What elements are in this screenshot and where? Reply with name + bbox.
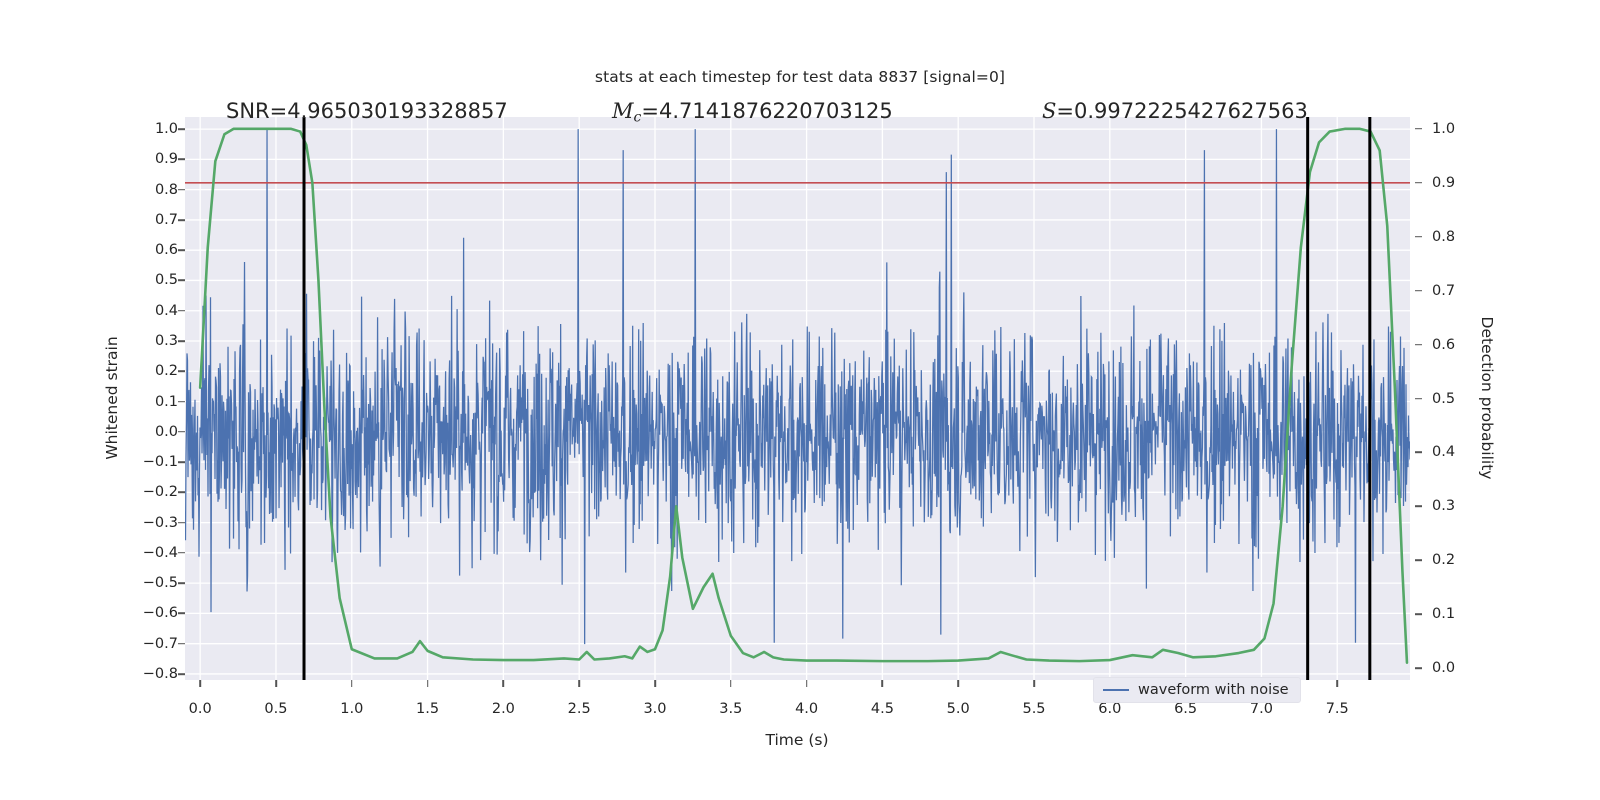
y-tick-label-left: 0.4: [155, 303, 178, 319]
annotation-snr-value: 4.965030193328857: [287, 99, 507, 123]
y-tick-label-left: 0.9: [155, 151, 178, 167]
x-axis-label: Time (s): [765, 731, 828, 749]
y-tick-mark-left: [178, 613, 185, 615]
y-tick-label-right: 0.2: [1432, 552, 1455, 568]
x-tick-label: 1.5: [416, 701, 439, 717]
y-tick-mark-left: [178, 582, 185, 584]
x-tick-label: 0.5: [264, 701, 287, 717]
y-tick-label-left: 0.6: [155, 242, 178, 258]
annotation-mc-symbol: M: [612, 99, 634, 123]
y-tick-mark-right: [1415, 613, 1422, 615]
y-tick-label-left: 0.1: [155, 394, 178, 410]
x-tick-label: 4.5: [871, 701, 894, 717]
y-tick-mark-left: [178, 401, 185, 403]
y-tick-mark-left: [178, 310, 185, 312]
x-tick-label: 3.5: [719, 701, 742, 717]
y-tick-label-left: −0.3: [143, 515, 178, 531]
y-tick-mark-right: [1415, 398, 1422, 400]
y-tick-label-left: −0.5: [143, 575, 178, 591]
y-tick-mark-left: [178, 159, 185, 161]
y-tick-mark-left: [178, 673, 185, 675]
y-tick-mark-left: [178, 643, 185, 645]
y-tick-label-left: −0.6: [143, 605, 178, 621]
y-tick-label-left: 0.8: [155, 182, 178, 198]
y-tick-label-right: 0.0: [1432, 660, 1455, 676]
annotation-chirp-mass: Mc=4.7141876220703125: [612, 99, 893, 126]
y-tick-mark-right: [1415, 182, 1422, 184]
y-tick-label-right: 0.3: [1432, 498, 1455, 514]
y-tick-mark-left: [178, 189, 185, 191]
plot-axes: [185, 117, 1410, 680]
y-tick-mark-left: [178, 492, 185, 494]
y-tick-label-left: −0.4: [143, 545, 178, 561]
annotation-s-value: 0.9972225427627563: [1074, 99, 1308, 123]
y-tick-mark-left: [178, 370, 185, 372]
x-tick-label: 2.5: [568, 701, 591, 717]
y-tick-label-left: 0.0: [155, 424, 178, 440]
y-tick-mark-right: [1415, 452, 1422, 454]
x-tick-label: 7.0: [1250, 701, 1273, 717]
x-tick-label: 5.0: [947, 701, 970, 717]
x-tick-mark: [806, 680, 808, 687]
annotation-snr-prefix: SNR=: [226, 99, 287, 123]
x-tick-mark: [654, 680, 656, 687]
y-tick-mark-right: [1415, 344, 1422, 346]
y-axis-left-label: Whitened strain: [103, 336, 121, 459]
x-tick-label: 3.0: [643, 701, 666, 717]
y-tick-mark-right: [1415, 290, 1422, 292]
waveform-with-noise-series: [185, 129, 1410, 644]
y-tick-mark-right: [1415, 559, 1422, 561]
annotation-mc-value: 4.7141876220703125: [659, 99, 893, 123]
x-tick-label: 0.0: [189, 701, 212, 717]
y-tick-mark-right: [1415, 128, 1422, 130]
y-axis-right-label: Detection probability: [1478, 317, 1496, 480]
x-tick-label: 6.5: [1174, 701, 1197, 717]
y-tick-label-right: 0.1: [1432, 606, 1455, 622]
annotation-s-symbol: S: [1042, 99, 1056, 123]
x-tick-label: 2.0: [492, 701, 515, 717]
y-tick-label-right: 0.4: [1432, 444, 1455, 460]
x-tick-mark: [578, 680, 580, 687]
legend: waveform with noise: [1093, 677, 1301, 703]
y-tick-label-left: −0.7: [143, 636, 178, 652]
x-tick-label: 1.0: [340, 701, 363, 717]
y-tick-mark-left: [178, 340, 185, 342]
y-tick-label-right: 0.9: [1432, 175, 1455, 191]
y-tick-label-right: 0.6: [1432, 337, 1455, 353]
x-tick-mark: [882, 680, 884, 687]
legend-label: waveform with noise: [1138, 682, 1289, 698]
x-tick-label: 4.0: [795, 701, 818, 717]
y-tick-mark-left: [178, 552, 185, 554]
y-tick-mark-left: [178, 461, 185, 463]
plot-svg: [185, 117, 1410, 680]
annotation-mc-prefix: =: [641, 99, 659, 123]
x-tick-label: 5.5: [1022, 701, 1045, 717]
y-tick-mark-left: [178, 128, 185, 130]
y-tick-label-left: 1.0: [155, 121, 178, 137]
y-tick-mark-right: [1415, 236, 1422, 238]
x-tick-mark: [1033, 680, 1035, 687]
y-tick-label-left: 0.2: [155, 363, 178, 379]
annotation-s-prefix: =: [1056, 99, 1074, 123]
y-tick-mark-left: [178, 522, 185, 524]
y-tick-mark-left: [178, 249, 185, 251]
y-tick-mark-left: [178, 280, 185, 282]
waveform-path: [185, 129, 1410, 644]
y-tick-label-right: 0.7: [1432, 283, 1455, 299]
annotation-score: S=0.9972225427627563: [1042, 99, 1308, 123]
legend-line-swatch: [1103, 689, 1129, 691]
y-tick-label-right: 0.5: [1432, 391, 1455, 407]
y-tick-mark-left: [178, 431, 185, 433]
y-tick-mark-right: [1415, 667, 1422, 669]
y-tick-label-left: 0.5: [155, 272, 178, 288]
x-tick-mark: [503, 680, 505, 687]
x-tick-mark: [199, 680, 201, 687]
x-tick-mark: [427, 680, 429, 687]
y-tick-mark-left: [178, 219, 185, 221]
x-tick-mark: [351, 680, 353, 687]
x-tick-label: 6.0: [1098, 701, 1121, 717]
figure-canvas: stats at each timestep for test data 883…: [0, 0, 1600, 800]
y-tick-label-right: 1.0: [1432, 121, 1455, 137]
y-tick-label-left: 0.3: [155, 333, 178, 349]
y-tick-label-left: 0.7: [155, 212, 178, 228]
y-tick-label-left: −0.8: [143, 666, 178, 682]
y-tick-label-left: −0.2: [143, 484, 178, 500]
y-tick-label-right: 0.8: [1432, 229, 1455, 245]
y-tick-label-left: −0.1: [143, 454, 178, 470]
x-tick-label: 7.5: [1326, 701, 1349, 717]
plot-title: stats at each timestep for test data 883…: [0, 68, 1600, 86]
x-tick-mark: [730, 680, 732, 687]
y-tick-mark-right: [1415, 506, 1422, 508]
annotation-snr: SNR=4.965030193328857: [226, 99, 508, 123]
x-tick-mark: [957, 680, 959, 687]
x-tick-mark: [1336, 680, 1338, 687]
x-tick-mark: [275, 680, 277, 687]
